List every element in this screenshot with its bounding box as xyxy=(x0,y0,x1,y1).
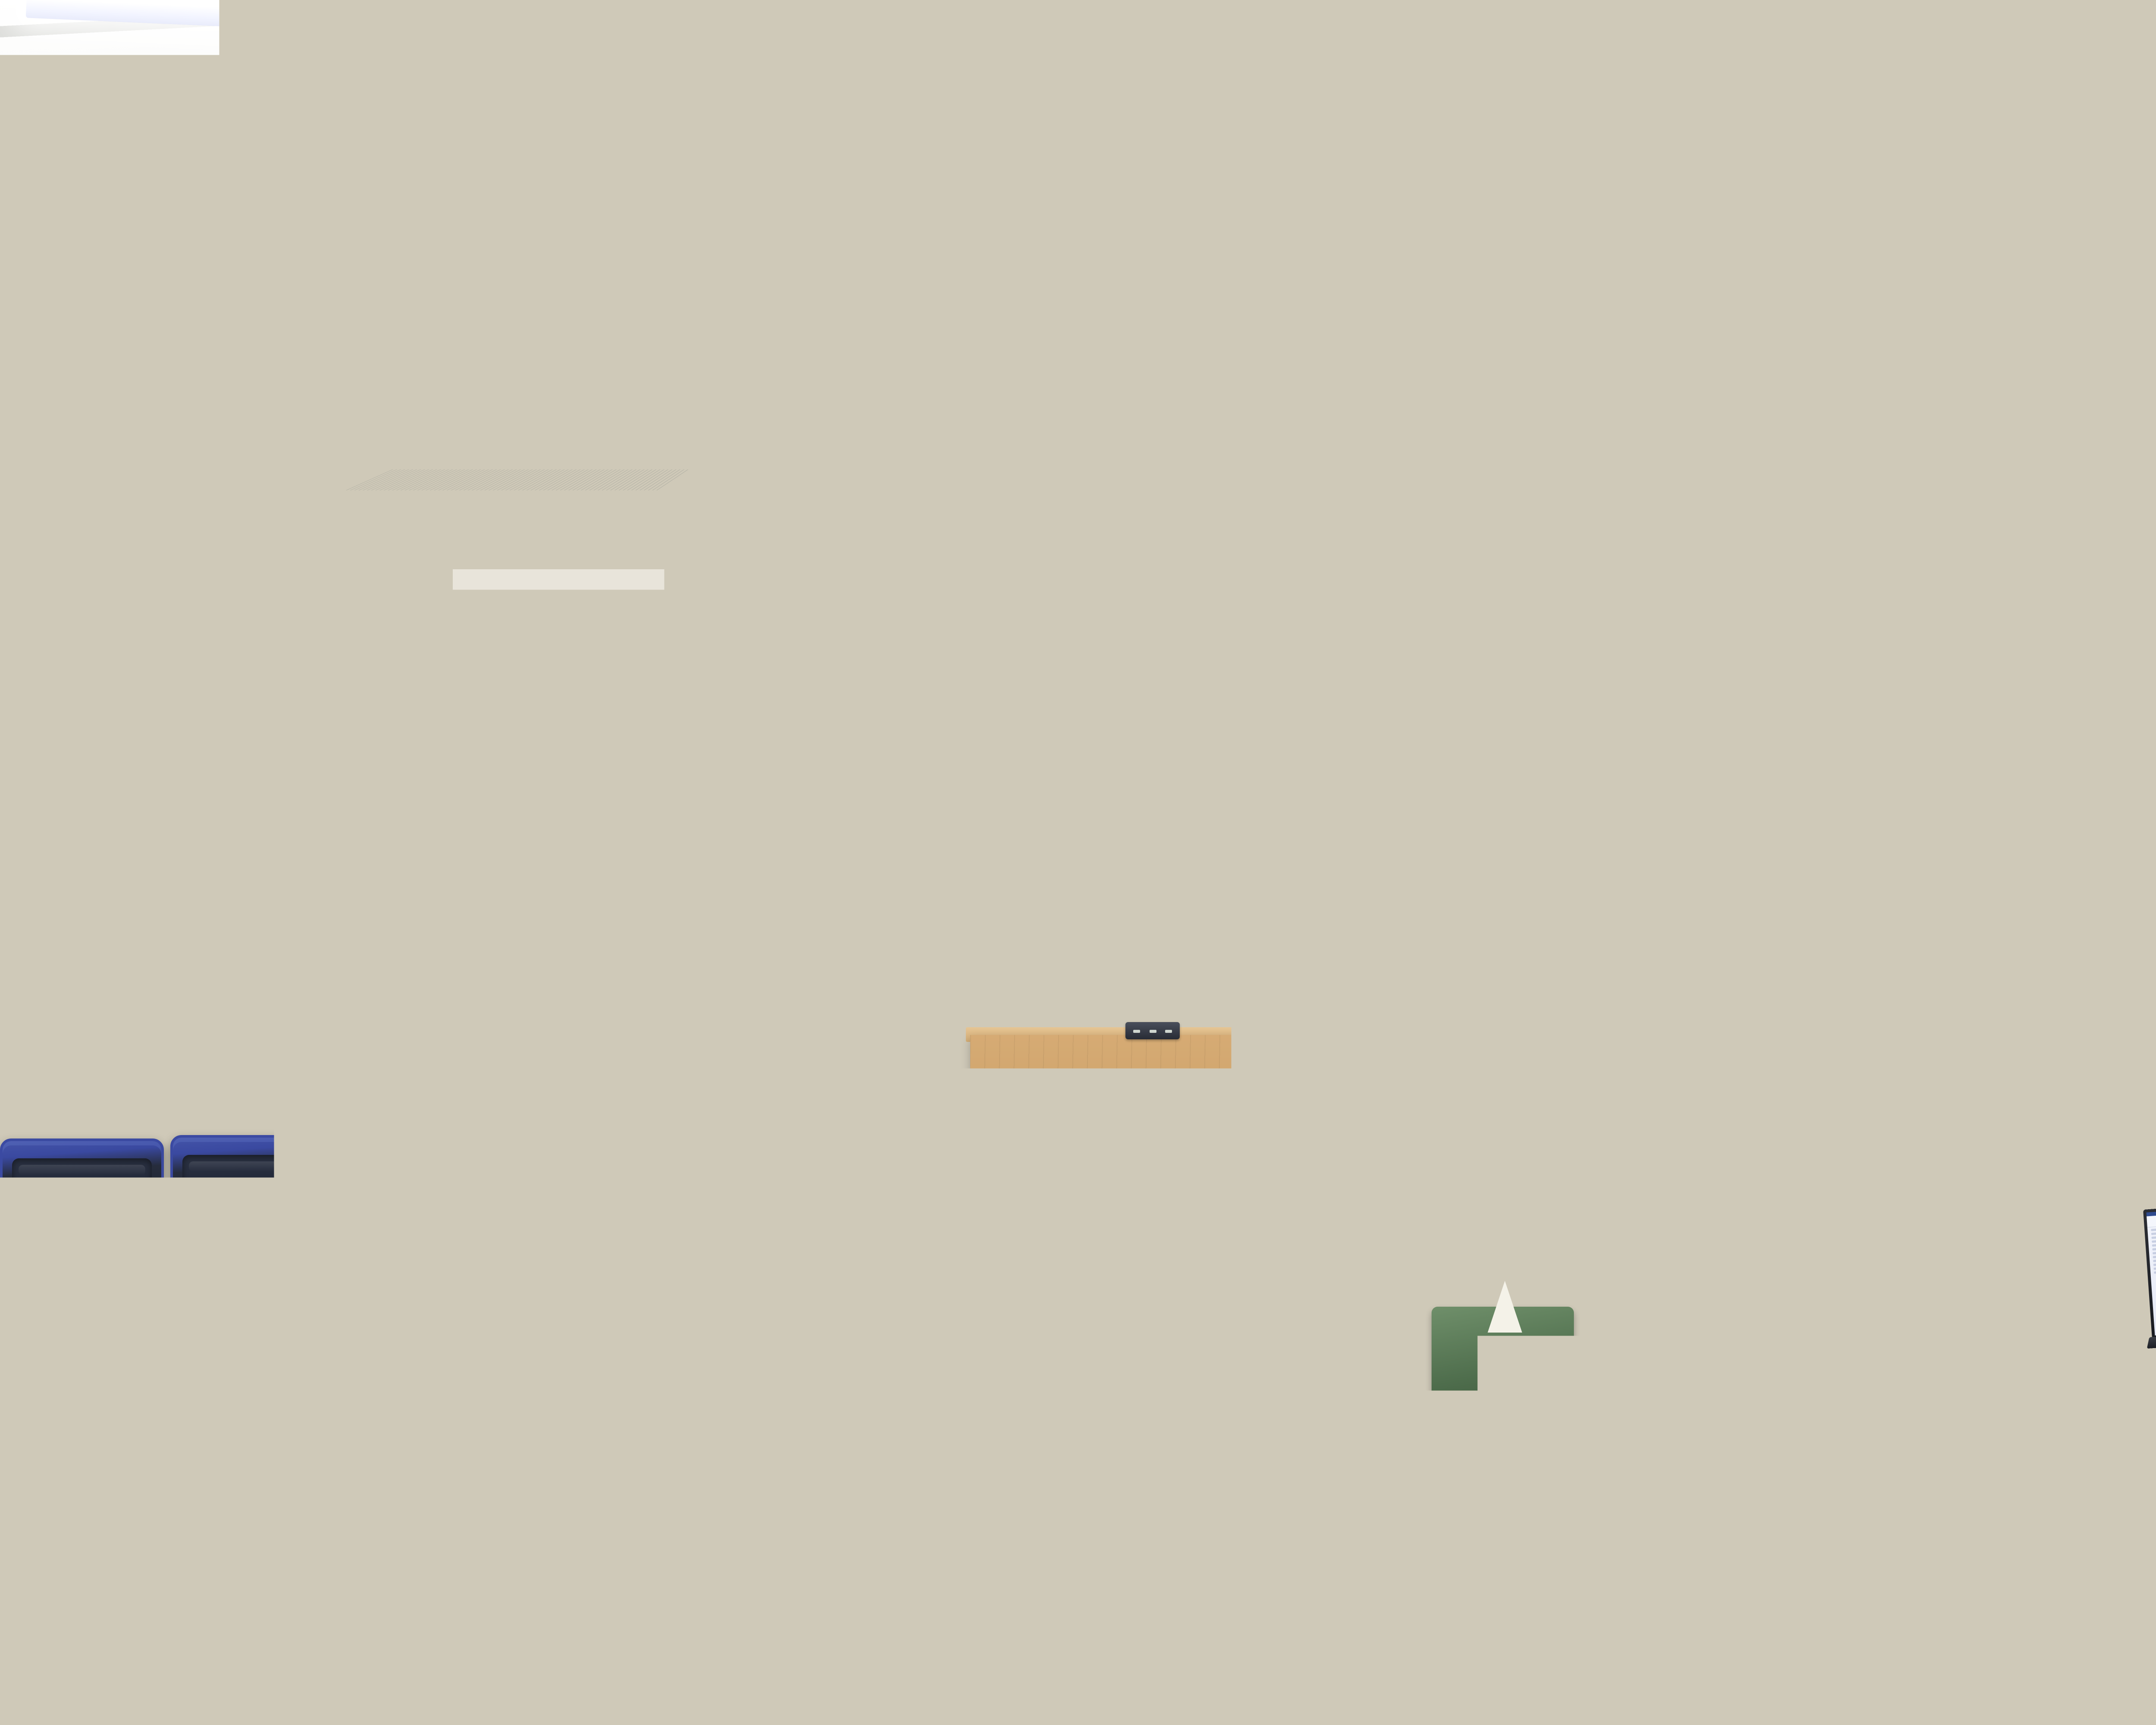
eu-flag-icon xyxy=(825,953,845,967)
glasses-icon xyxy=(1521,899,1540,910)
hvac-vent xyxy=(783,0,928,80)
banner-caption-line-2: COmmunity Of Practice xyxy=(1561,1002,1738,1010)
stat-value: 400 M xyxy=(768,877,784,884)
banner-brand: COASTRUST xyxy=(1418,852,1455,859)
seat[interactable] xyxy=(0,1527,241,1712)
eu-funding-line-2: the European Union xyxy=(856,959,898,966)
banner-programme-sub: Euro-MED xyxy=(1459,858,1486,862)
seat[interactable] xyxy=(744,1527,985,1712)
hvac-vent xyxy=(1655,42,1790,119)
paper-on-table xyxy=(1022,1025,1074,1032)
forearms xyxy=(1209,1032,1282,1050)
eu-flag-icon xyxy=(1490,851,1503,860)
seat[interactable] xyxy=(222,1368,438,1523)
seat[interactable] xyxy=(681,1133,845,1245)
sun-icon xyxy=(1563,837,1574,848)
event-dates: 23-24 xyxy=(1153,945,1167,950)
torso xyxy=(1915,1104,2040,1212)
banner-caption-line-1: WEtland GOvernance xyxy=(1561,994,1738,1002)
sun-icon xyxy=(691,956,705,970)
head xyxy=(914,1052,1000,1143)
flagpole-finial xyxy=(609,796,616,819)
seat[interactable] xyxy=(0,1242,185,1371)
seat[interactable] xyxy=(576,1237,761,1366)
stat-icon xyxy=(759,801,774,816)
stat-value: 48 % xyxy=(1023,909,1037,916)
seat[interactable] xyxy=(666,1368,882,1523)
eu-funding-line-1: Cofinanciado por xyxy=(1506,851,1529,855)
flagpole-finial xyxy=(546,801,553,824)
flagpole-finial xyxy=(428,802,435,825)
slide-stat: 12 % xyxy=(964,795,1090,813)
banner-header: COASTRUST interreg Euro-MED Cofinanciado… xyxy=(1399,844,1554,866)
outlook-card-title: MEDITERRANEAN WETLANDS OUTLOOK 3 xyxy=(1127,832,1227,847)
stat-icon xyxy=(881,800,896,815)
slide-center-text: MEDITERRANEAN WETLANDS RESPONSES TO ONGO… xyxy=(818,869,1005,917)
auditorium-photo: SALIDA Qué práctica MedWet Initiative po… xyxy=(0,0,2156,1725)
stat-value: 12 % xyxy=(983,800,997,808)
wall-socket xyxy=(215,1018,226,1032)
seat[interactable] xyxy=(496,1523,737,1709)
head xyxy=(1522,1035,1617,1138)
seat[interactable] xyxy=(384,1237,569,1366)
slide-outlook-card: MEDITERRANEAN WETLANDS OUTLOOK 3 xyxy=(1127,832,1228,942)
backpack-strap xyxy=(1631,1382,1669,1530)
banner-top-rail xyxy=(1559,822,1740,828)
slide-stat: 451 xyxy=(877,768,976,785)
seat[interactable] xyxy=(1897,1552,2156,1725)
stat-value: 26 % xyxy=(777,771,790,778)
face-profile xyxy=(1781,1052,1828,1113)
banner-brand: WE GO COOP xyxy=(1578,839,1618,846)
fire-alarm-icon xyxy=(339,950,356,970)
stat-value: 369 inhabit./km² xyxy=(768,888,814,896)
banner-body-overline: GOBERNANZA DE LOS HUMEDALES xyxy=(1565,1021,1734,1025)
slide-footer-eu: Co-funded by the European Union xyxy=(856,953,898,966)
banner-wave-sand xyxy=(1559,857,1740,887)
stat-value: 11 000 km² xyxy=(777,800,808,808)
slide-key-figures-label: Key figures xyxy=(993,759,1073,778)
slide-title: Qué práctica xyxy=(689,725,815,753)
slide-footer-programme-sub: Euro-MED xyxy=(773,965,815,971)
torso xyxy=(1492,1126,1656,1264)
stat-value: 6 % xyxy=(899,799,909,806)
slide-center-headline-1: RESPONSES TO xyxy=(818,878,1004,899)
slide-stat: 11 000 km² xyxy=(759,799,863,817)
banner-programme: interreg Euro-MED xyxy=(1621,836,1648,849)
slide-footer-partner: WE GO COOP xyxy=(716,958,761,966)
table-microphone-base[interactable] xyxy=(979,1021,1020,1038)
spain-coat-of-arms xyxy=(477,951,500,980)
banner-top-rail xyxy=(1399,834,1554,841)
jacket-on-seat xyxy=(522,1138,651,1242)
stat-icon xyxy=(877,769,892,784)
table-microphone-base[interactable] xyxy=(1401,1016,1456,1033)
stat-icon xyxy=(1005,909,1020,924)
eu-flag-icon xyxy=(1652,838,1665,847)
ceiling-speaker xyxy=(224,354,276,382)
seat[interactable] xyxy=(0,1371,216,1527)
face xyxy=(1224,942,1255,980)
event-name-1: SIMPOSIO xyxy=(1168,939,1219,951)
eu-funding-line-2: la Unión Europea xyxy=(1506,855,1529,859)
seat[interactable] xyxy=(444,1366,660,1521)
slide-stat: 26 % xyxy=(758,769,858,787)
seat[interactable] xyxy=(0,1138,164,1251)
slide-panel-label-impacts: IMPACTS xyxy=(1002,784,1045,794)
banner-eu-funding: Cofinanciado por la Unión Europea xyxy=(1506,851,1529,859)
event-month: SEP xyxy=(1153,953,1164,958)
stat-icon xyxy=(758,771,774,786)
torso xyxy=(2065,1119,2156,1236)
banner-image-coastal-lagoon xyxy=(1559,907,1740,993)
slide-footer-programme: Interreg Euro-MED xyxy=(773,951,815,971)
slide-panel-label-drivers: DRIVERS xyxy=(771,862,814,872)
slide-stat: 48 % xyxy=(1005,907,1096,924)
glasses-icon xyxy=(1501,899,1520,910)
flagpole-finial xyxy=(482,800,489,823)
banner-wave-yellow xyxy=(1559,885,1740,910)
event-year: 2025 xyxy=(1153,960,1165,966)
outlook-card-image xyxy=(1128,849,1228,942)
banner-caption: WEtland GOvernance COmmunity Of Practice xyxy=(1559,991,1740,1013)
stat-icon xyxy=(964,797,979,812)
projection-screen: Qué práctica MedWet Initiative pour les … xyxy=(673,694,1233,980)
stat-value: +20 % xyxy=(899,828,917,835)
seat[interactable] xyxy=(170,1135,334,1247)
slide-stat: 6 % xyxy=(881,798,971,815)
seat[interactable] xyxy=(248,1524,489,1709)
seat[interactable] xyxy=(768,1240,953,1370)
stat-value: 79 % xyxy=(778,829,792,837)
medwet-logo: MedWet Initiative pour les zones humides… xyxy=(1126,716,1215,750)
university-coat-of-arms xyxy=(602,911,624,940)
seat[interactable] xyxy=(1833,1367,2057,1531)
banner-programme: interreg Euro-MED xyxy=(1459,849,1486,862)
seat[interactable] xyxy=(192,1239,377,1368)
hvac-vent xyxy=(1672,322,1767,377)
stat-value: +4.7ºC xyxy=(771,915,790,922)
torso xyxy=(940,1233,1104,1376)
table-microphone-base[interactable] xyxy=(1125,1022,1180,1039)
backpack-brown xyxy=(1583,1367,1755,1548)
head xyxy=(966,1126,1078,1246)
presentation-slide: Qué práctica MedWet Initiative pour les … xyxy=(673,703,1232,980)
seat[interactable] xyxy=(341,1133,505,1245)
stat-icon xyxy=(760,829,775,844)
stat-value: +2.0ºC xyxy=(751,915,770,922)
medwet-circle-icon xyxy=(1191,727,1219,754)
stat-icon xyxy=(749,877,765,892)
banner-header: WE GO COOP interreg Euro-MED xyxy=(1559,831,1740,853)
wall-fixture xyxy=(315,671,337,684)
stat-value: 451 xyxy=(895,769,905,776)
wetland-globe-icon xyxy=(1071,759,1089,777)
table-seam xyxy=(1329,1044,1332,1276)
banner-programme-sub: Euro-MED xyxy=(1621,845,1648,849)
sun-icon xyxy=(1404,850,1415,861)
seat[interactable] xyxy=(2065,1380,2156,1544)
head xyxy=(1932,1026,2009,1113)
wall-socket xyxy=(224,940,235,957)
